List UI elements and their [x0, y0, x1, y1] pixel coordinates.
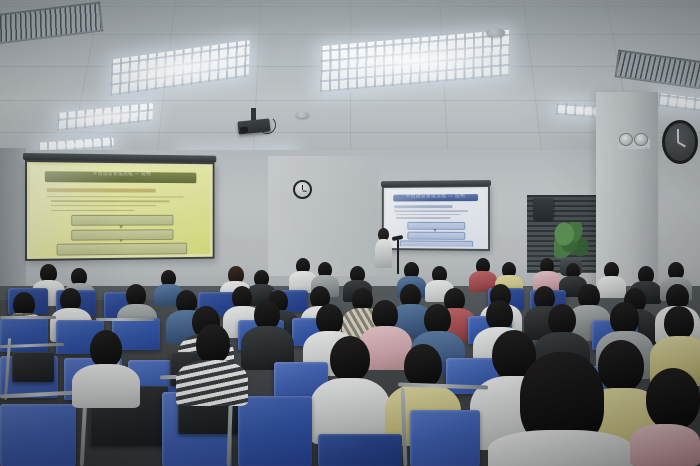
audience-head — [598, 340, 644, 392]
presenter-body — [375, 239, 392, 268]
slide-title-bar: 平台运营管理流程 — 说明 — [393, 194, 477, 202]
seat-rail — [96, 318, 154, 321]
seat — [410, 410, 480, 466]
audience-head — [404, 344, 442, 388]
pillar-clock — [662, 120, 698, 164]
slide-subtitle — [47, 188, 156, 193]
presenter — [374, 228, 394, 268]
audience-head — [90, 330, 122, 368]
audience-head — [646, 368, 700, 430]
projector-lens — [240, 127, 249, 134]
projector-cable — [258, 116, 276, 134]
projection-screen-left: 平台运营管理流程 — 说明 — [25, 160, 214, 261]
wall-speaker — [533, 198, 553, 220]
seat — [318, 434, 402, 466]
audience-body — [176, 360, 248, 406]
left-wall — [0, 148, 26, 300]
audience-body — [630, 424, 700, 466]
foreground-audience-body — [488, 430, 634, 466]
seat — [238, 396, 312, 466]
screen-roller-housing — [23, 153, 216, 162]
center-wall-pier — [268, 156, 378, 276]
audience-head — [196, 324, 230, 364]
screen-roller-housing — [381, 180, 491, 187]
seat — [0, 404, 76, 466]
audience-body — [597, 276, 626, 298]
wall-clock — [293, 180, 312, 199]
flow-box — [56, 243, 187, 256]
smoke-detector-icon — [296, 112, 309, 118]
audience-body — [72, 364, 140, 408]
audience-head — [664, 306, 694, 340]
audience-head — [330, 336, 370, 382]
ceiling-projector — [236, 108, 272, 142]
slide-subtitle — [394, 205, 452, 209]
flow-box — [399, 240, 473, 247]
seat-rail — [0, 316, 56, 319]
seat-tablet-arm — [12, 352, 54, 382]
slide-title-bar: 平台运营管理流程 — 说明 — [45, 172, 196, 184]
slide-title-text: 平台运营管理流程 — 说明 — [393, 194, 477, 202]
lecture-hall-photo: 平台运营管理流程 — 说明 平台运营管理流程 — 说明 — [0, 0, 700, 466]
flow-box — [407, 232, 465, 241]
microphone-stand — [396, 236, 399, 272]
emergency-light — [618, 133, 650, 149]
slide-content-left: 平台运营管理流程 — 说明 — [30, 165, 210, 256]
smoke-detector-icon — [486, 28, 505, 37]
slide-title-text: 平台运营管理流程 — 说明 — [45, 172, 196, 184]
